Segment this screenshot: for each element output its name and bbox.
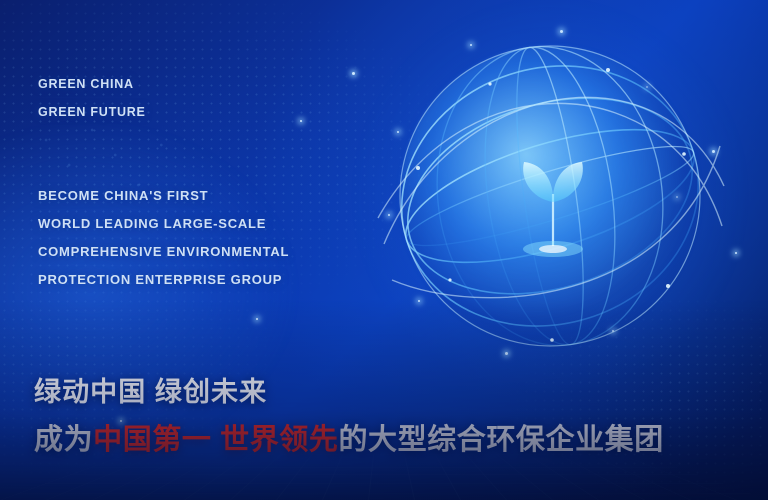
english-mid-line-3: COMPREHENSIVE ENVIRONMENTAL xyxy=(38,238,289,266)
english-mid-line-1: BECOME CHINA'S FIRST xyxy=(38,182,289,210)
hero-banner: GREEN CHINA GREEN FUTURE BECOME CHINA'S … xyxy=(0,0,768,500)
english-tagline-mid: BECOME CHINA'S FIRST WORLD LEADING LARGE… xyxy=(38,182,289,294)
english-tagline-top: GREEN CHINA GREEN FUTURE xyxy=(38,70,146,126)
bottom-vignette xyxy=(0,300,768,500)
english-top-line-1: GREEN CHINA xyxy=(38,70,146,98)
english-top-line-2: GREEN FUTURE xyxy=(38,98,146,126)
english-mid-line-4: PROTECTION ENTERPRISE GROUP xyxy=(38,266,289,294)
english-mid-line-2: WORLD LEADING LARGE-SCALE xyxy=(38,210,289,238)
sprout-seedling-icon xyxy=(510,150,596,260)
